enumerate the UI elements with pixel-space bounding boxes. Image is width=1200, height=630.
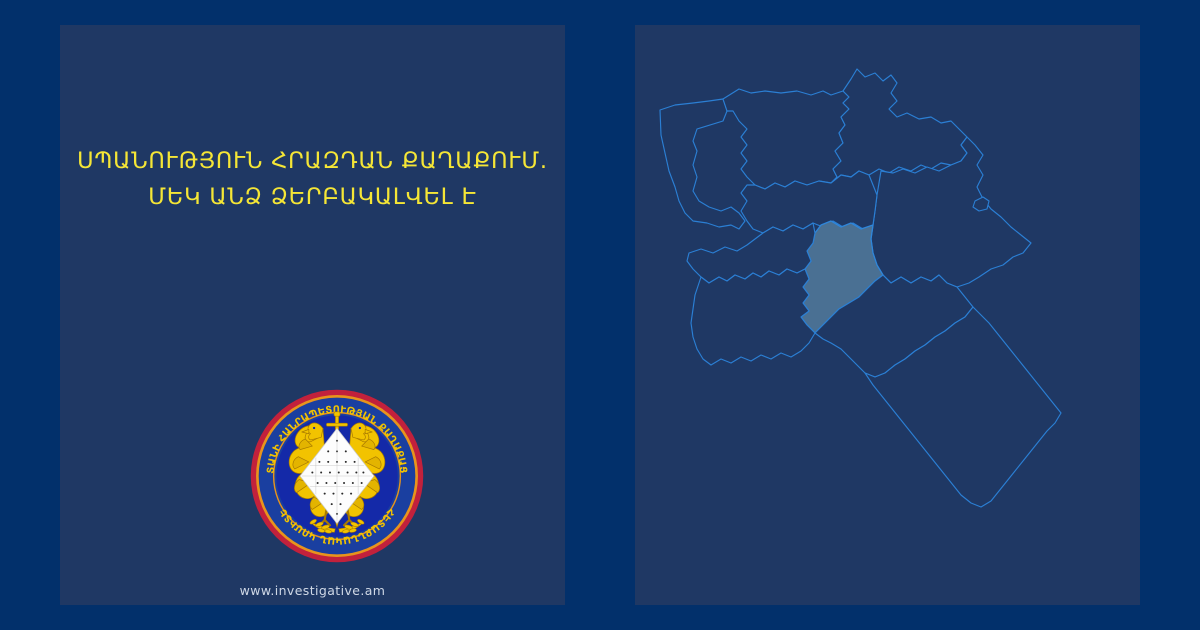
headline-line-1: ՍՊԱՆՈՒԹՅՈՒՆ ՀՐԱԶԴԱՆ ՔԱՂԱՔՈՒՄ. xyxy=(60,143,565,179)
headline-line-2: ՄԵԿ ԱՆՁ ՁԵՐԲԱԿԱԼՎԵԼ Է xyxy=(60,179,565,215)
left-content-panel: ՍՊԱՆՈՒԹՅՈՒՆ ՀՐԱԶԴԱՆ ՔԱՂԱՔՈՒՄ. ՄԵԿ ԱՆՁ ՁԵ… xyxy=(60,25,565,605)
armenia-provinces-map[interactable] xyxy=(635,25,1140,605)
map-region-lori[interactable] xyxy=(723,89,849,189)
map-panel xyxy=(635,25,1140,605)
page-title: ՍՊԱՆՈՒԹՅՈՒՆ ՀՐԱԶԴԱՆ ՔԱՂԱՔՈՒՄ. ՄԵԿ ԱՆՁ ՁԵ… xyxy=(60,143,565,215)
poster-canvas: ՍՊԱՆՈՒԹՅՈՒՆ ՀՐԱԶԴԱՆ ՔԱՂԱՔՈՒՄ. ՄԵԿ ԱՆՁ ՁԵ… xyxy=(0,0,1200,630)
emblem-container: ՀԱՅԱՍՏԱՆԻ ՀԱՆՐԱՊԵՏՈՒԹՅԱՆ ՔԱՂԱՔԱՑԻԱԿԱՆ ՀԵ… xyxy=(249,388,425,564)
map-region-tavush[interactable] xyxy=(831,69,967,183)
investigative-committee-seal-icon: ՀԱՅԱՍՏԱՆԻ ՀԱՆՐԱՊԵՏՈՒԹՅԱՆ ՔԱՂԱՔԱՑԻԱԿԱՆ ՀԵ… xyxy=(249,388,425,564)
website-url[interactable]: www.investigative.am xyxy=(60,583,565,598)
map-region-shirak[interactable] xyxy=(660,99,745,229)
map-region-ararat[interactable] xyxy=(691,269,815,365)
